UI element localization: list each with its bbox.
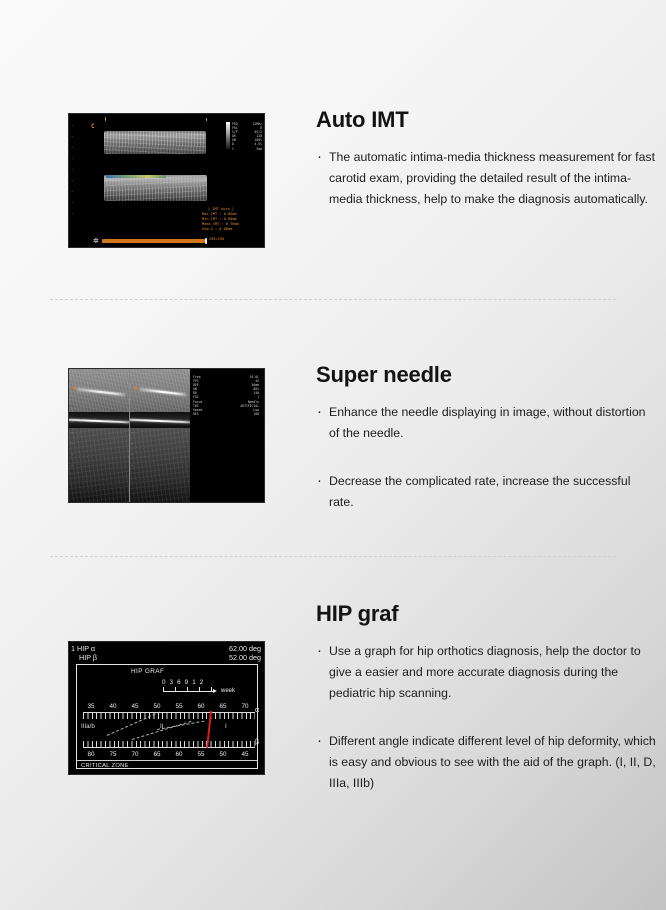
needle-pane-right: P <box>130 369 190 502</box>
alpha-tick: 40 <box>109 703 116 710</box>
hip-chart-title: HIP GRAF <box>131 668 164 675</box>
alpha-tick: 70 <box>241 703 248 710</box>
hip-alpha-name: HIP α <box>77 644 95 653</box>
critical-zone-separator <box>77 760 257 761</box>
depth-ruler-center: ------ <box>131 405 133 471</box>
depth-ruler-left: --------- <box>71 120 73 219</box>
grayscale-bar <box>226 122 230 149</box>
imt-measurement-readout: [ IMT Auto ] Max IMT : 0.85mm Min IMT : … <box>202 207 239 232</box>
super-needle-ultrasound-thumbnail[interactable]: P P ------ ------ Freq10.0L FPS45 DEP50m <box>68 368 265 503</box>
probe-marker-c: C <box>91 123 95 130</box>
alpha-tick: 45 <box>131 703 138 710</box>
slide-root: --------- C FRQ12MHz FRL8 S/P65/2 DR120 … <box>0 0 666 910</box>
alpha-tick: 55 <box>175 703 182 710</box>
param-key: RES <box>193 412 199 416</box>
brightness-icon: ✲ <box>93 238 99 245</box>
list-item: Decrease the complicated rate, increase … <box>316 471 656 513</box>
beta-tick: 50 <box>219 751 226 758</box>
week-axis-tick <box>175 687 176 691</box>
page-title-hip-graf: HIP graf <box>316 601 656 627</box>
week-axis-arrow-icon <box>213 689 217 693</box>
param-val: 100 <box>253 412 259 416</box>
week-axis-tick <box>187 687 188 691</box>
param-key: C <box>232 147 234 151</box>
hip-beta-value: 52.00 deg <box>229 653 261 663</box>
section-hip-graf: 1 HIP α 62.00 deg HIP β 52.00 deg HIP GR… <box>0 641 666 841</box>
hip-chart-frame: HIP GRAF 036912 week 35 40 45 50 <box>76 664 258 769</box>
page-title-super-needle: Super needle <box>316 362 656 388</box>
beta-tick: 45 <box>241 751 248 758</box>
page-title-auto-imt: Auto IMT <box>316 107 656 133</box>
alpha-tick: 60 <box>197 703 204 710</box>
week-axis-tick <box>163 687 164 691</box>
super-needle-bullet-list: Enhance the needle displaying in image, … <box>316 402 656 513</box>
probe-marker-p: P <box>134 386 138 393</box>
alpha-tick: 50 <box>153 703 160 710</box>
hip-graf-chart-thumbnail[interactable]: 1 HIP α 62.00 deg HIP β 52.00 deg HIP GR… <box>68 641 265 775</box>
imt-auto-trace <box>106 175 166 178</box>
maturation-curve-lower <box>157 721 204 730</box>
alpha-tick: 65 <box>219 703 226 710</box>
hip-graf-bullet-list: Use a graph for hip orthotics diagnosis,… <box>316 641 656 794</box>
beta-tick: 65 <box>153 751 160 758</box>
week-axis-label: week <box>221 688 235 694</box>
week-tick: 3 <box>170 679 178 686</box>
probe-marker-p: P <box>73 386 77 393</box>
beta-tick: 80 <box>87 751 94 758</box>
week-tick-labels: 036912 <box>162 679 207 686</box>
zone-label-i: I <box>225 723 227 730</box>
section-super-needle: P P ------ ------ Freq10.0L FPS45 DEP50m <box>0 368 666 528</box>
tissue-layer-deep <box>130 428 190 502</box>
cine-counter: 256/256 <box>209 237 224 242</box>
auto-imt-text-column: Auto IMT The automatic intima-media thic… <box>316 107 656 223</box>
auto-imt-bullet-list: The automatic intima-media thickness mea… <box>316 147 656 210</box>
week-tick: 0 <box>162 679 170 686</box>
hip-beta-label: HIP β <box>79 653 97 663</box>
week-tick: 6 <box>177 679 185 686</box>
depth-ruler-left: ------ <box>71 405 73 471</box>
hip-graf-text-column: HIP graf Use a graph for hip orthotics d… <box>316 601 656 807</box>
needle-pane-left: P <box>69 369 129 502</box>
beta-tick: 55 <box>197 751 204 758</box>
week-axis-tick <box>211 687 212 691</box>
vessel-band-upper <box>104 131 206 154</box>
cine-progress-handle[interactable] <box>205 238 207 244</box>
section-divider-2 <box>50 556 616 557</box>
alpha-ruler <box>83 712 255 719</box>
critical-zone-label: CRITICAL ZONE <box>81 763 129 769</box>
scan-parameter-panel: FRQ12MHz FRL8 S/P65/2 DR120 GN100% D4.5%… <box>232 122 262 151</box>
beta-tick: 60 <box>175 751 182 758</box>
measurement-row: Std.S : 0.06mm <box>202 227 239 232</box>
marker-tick-right <box>206 118 207 121</box>
list-item: The automatic intima-media thickness mea… <box>316 147 656 210</box>
list-item: Different angle indicate different level… <box>316 731 656 794</box>
beta-ruler <box>83 741 255 748</box>
beta-tick: 70 <box>131 751 138 758</box>
alpha-axis-symbol: α <box>255 707 259 714</box>
param-val: 5mm <box>256 147 262 151</box>
tissue-layer-deep <box>69 428 129 502</box>
week-axis-tick <box>199 687 200 691</box>
week-tick: 12 <box>192 679 207 686</box>
super-needle-text-column: Super needle Enhance the needle displayi… <box>316 362 656 526</box>
beta-axis-symbol: β <box>255 739 259 746</box>
auto-imt-ultrasound-thumbnail[interactable]: --------- C FRQ12MHz FRL8 S/P65/2 DR120 … <box>68 113 265 248</box>
list-item: Enhance the needle displaying in image, … <box>316 402 656 444</box>
section-divider-1 <box>50 299 616 300</box>
marker-tick-top <box>105 117 106 121</box>
week-axis-line <box>163 691 213 692</box>
alpha-tick: 35 <box>87 703 94 710</box>
section-auto-imt: --------- C FRQ12MHz FRL8 S/P65/2 DR120 … <box>0 113 666 273</box>
beta-tick: 75 <box>109 751 116 758</box>
cine-progress-bar[interactable] <box>102 239 205 243</box>
vessel-band-lower <box>104 175 207 201</box>
list-item: Use a graph for hip orthotics diagnosis,… <box>316 641 656 704</box>
scan-parameter-panel: Freq10.0L FPS45 DEP50mm GN80% DR140 FOC1… <box>193 375 259 416</box>
hip-index: 1 <box>71 644 75 653</box>
zone-label-iii: IIIa/b <box>81 723 95 730</box>
